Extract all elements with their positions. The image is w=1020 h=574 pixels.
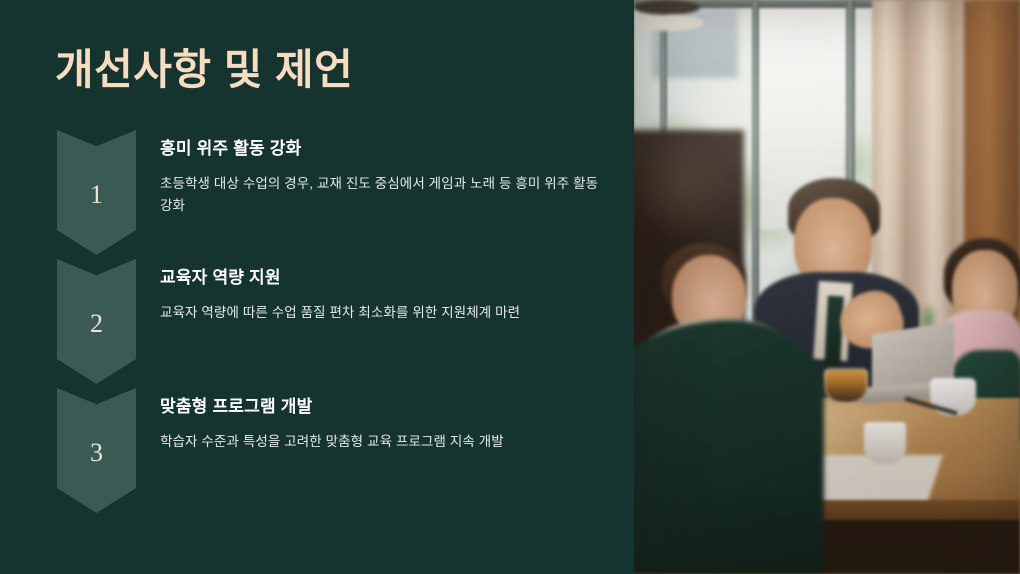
chevron-number-1: 1 (57, 130, 136, 255)
list-item: 1 흥미 위주 활동 강화 초등학생 대상 수업의 경우, 교재 진도 중심에서… (0, 130, 634, 259)
list-item-text-1: 흥미 위주 활동 강화 초등학생 대상 수업의 경우, 교재 진도 중심에서 게… (160, 138, 600, 217)
list-item-text-2: 교육자 역량 지원 교육자 역량에 따른 수업 품질 편차 최소화를 위한 지원… (160, 267, 600, 324)
list-item-heading: 맞춤형 프로그램 개발 (160, 396, 600, 419)
presentation-slide: 개선사항 및 제언 1 흥미 위주 활동 강화 초등학생 대상 수업의 경우, … (0, 0, 1020, 574)
chevron-number-3: 3 (57, 388, 136, 513)
coffee-cup-front (864, 422, 906, 464)
page-title: 개선사항 및 제언 (55, 46, 353, 94)
recommendation-list: 1 흥미 위주 활동 강화 초등학생 대상 수업의 경우, 교재 진도 중심에서… (0, 130, 634, 517)
list-item: 3 맞춤형 프로그램 개발 학습자 수준과 특성을 고려한 맞춤형 교육 프로그… (0, 388, 634, 517)
list-item-heading: 흥미 위주 활동 강화 (160, 138, 600, 161)
list-item: 2 교육자 역량 지원 교육자 역량에 따른 수업 품질 편차 최소화를 위한 … (0, 259, 634, 388)
person-foreground-left-body (634, 320, 824, 574)
list-item-body: 초등학생 대상 수업의 경우, 교재 진도 중심에서 게임과 노래 등 흥미 위… (160, 173, 600, 217)
list-item-text-3: 맞춤형 프로그램 개발 학습자 수준과 특성을 고려한 맞춤형 교육 프로그램 … (160, 396, 600, 453)
list-item-body: 교육자 역량에 따른 수업 품질 편차 최소화를 위한 지원체계 마련 (160, 302, 600, 324)
list-item-heading: 교육자 역량 지원 (160, 267, 600, 290)
espresso-saucer (634, 0, 700, 15)
chevron-number-2: 2 (57, 259, 136, 384)
espresso-cup (824, 368, 868, 404)
business-meeting-photo (634, 0, 1020, 574)
coffee-saucer (634, 15, 704, 31)
list-item-body: 학습자 수준과 특성을 고려한 맞춤형 교육 프로그램 지속 개발 (160, 431, 600, 453)
slide-left-panel: 개선사항 및 제언 1 흥미 위주 활동 강화 초등학생 대상 수업의 경우, … (0, 0, 634, 574)
